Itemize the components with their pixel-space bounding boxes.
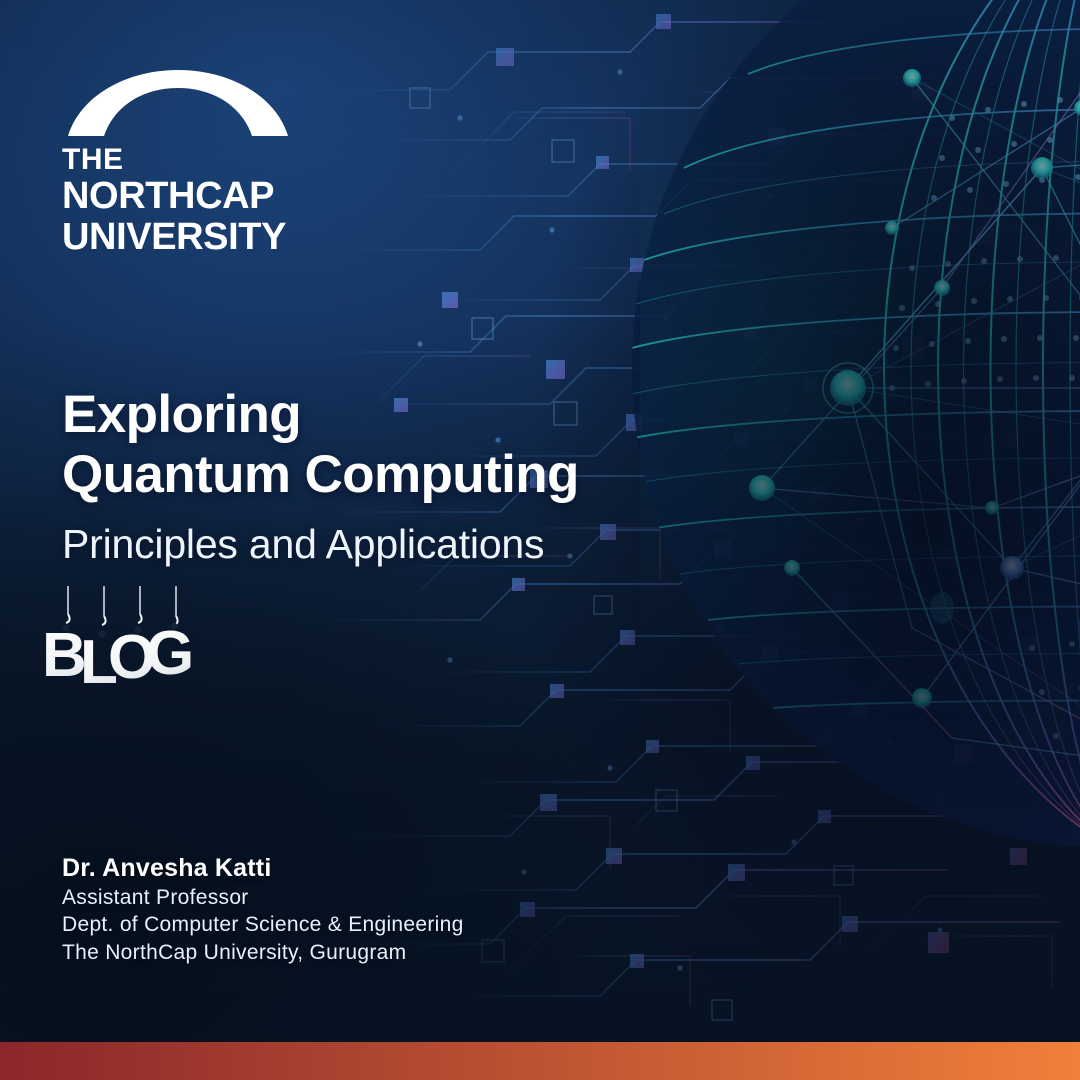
blog-hanging-tag: B L O G BLOG bbox=[0, 578, 420, 688]
blog-banner-canvas: THE NORTHCAP UNIVERSITY Exploring Quantu… bbox=[0, 0, 1080, 1080]
university-logo[interactable]: THE NORTHCAP UNIVERSITY bbox=[62, 68, 312, 257]
logo-line-northcap: NORTHCAP bbox=[62, 177, 312, 216]
logo-line-university: UNIVERSITY bbox=[62, 218, 312, 257]
author-institution: The NorthCap University, Gurugram bbox=[62, 939, 662, 967]
author-block: Dr. Anvesha Katti Assistant Professor De… bbox=[62, 853, 662, 967]
author-department: Dept. of Computer Science & Engineering bbox=[62, 911, 662, 939]
headline-block: Exploring Quantum Computing Principles a… bbox=[62, 385, 682, 569]
blog-letter-g: G bbox=[146, 619, 194, 688]
author-name: Dr. Anvesha Katti bbox=[62, 853, 662, 884]
headline-subtitle: Principles and Applications bbox=[62, 520, 682, 569]
arch-dome-icon bbox=[62, 68, 294, 140]
headline-line-2: Quantum Computing bbox=[62, 445, 682, 505]
logo-line-the: THE bbox=[62, 145, 312, 175]
headline-line-1: Exploring bbox=[62, 385, 682, 445]
author-role: Assistant Professor bbox=[62, 884, 662, 912]
bottom-accent-bar bbox=[0, 1042, 1080, 1080]
